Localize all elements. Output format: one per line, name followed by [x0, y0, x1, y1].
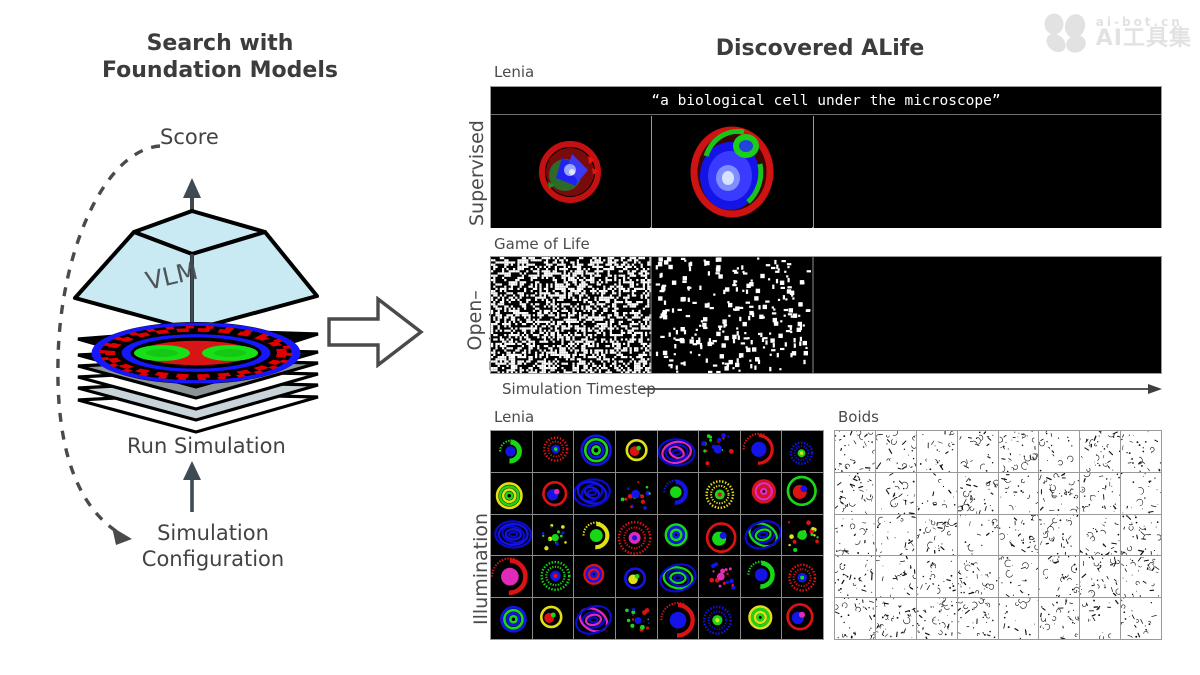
lenia-illumination-cell — [782, 598, 823, 639]
lenia-illumination-cell — [616, 431, 657, 472]
section-transition-arrow — [326, 296, 426, 368]
run-simulation-arrow-head — [183, 461, 201, 480]
supervised-frame-3 — [814, 116, 1161, 228]
lenia-illumination-cell — [699, 515, 740, 556]
lenia-illumination-cell — [658, 556, 699, 597]
lenia-illumination-cell — [658, 473, 699, 514]
lenia-illumination-cell — [491, 515, 532, 556]
lenia-illumination-cell — [616, 473, 657, 514]
boids-illumination-cell — [1080, 473, 1120, 514]
boids-illumination-cell — [1080, 598, 1120, 639]
sim-name-boids: Boids — [838, 408, 879, 426]
boids-illumination-cell — [958, 431, 998, 472]
boids-illumination-cell — [1121, 473, 1161, 514]
sim-name-lenia-illumination: Lenia — [494, 408, 534, 426]
boids-illumination-cell — [1080, 515, 1120, 556]
lenia-illumination-cell — [574, 431, 615, 472]
boids-illumination-cell — [835, 473, 875, 514]
row-label-illumination-text: Illumination — [470, 513, 492, 625]
supervised-frame-1 — [491, 116, 650, 228]
lenia-illumination-cell — [699, 473, 740, 514]
row-label-open-line1: Open– — [464, 269, 486, 372]
boids-illumination-cell — [1080, 431, 1120, 472]
lenia-illumination-cell — [782, 515, 823, 556]
supervised-prompt-text: “a biological cell under the microscope” — [491, 87, 1161, 115]
lenia-illumination-cell — [699, 431, 740, 472]
axis-label-simulation-timestep: Simulation Timestep — [502, 380, 656, 398]
boids-illumination-cell — [1121, 431, 1161, 472]
boids-illumination-cell — [876, 598, 916, 639]
boids-illumination-cell — [999, 473, 1039, 514]
boids-illumination-cell — [835, 515, 875, 556]
boids-illumination-cell — [999, 598, 1039, 639]
lenia-illumination-cell — [574, 556, 615, 597]
vlm-right-face — [192, 232, 317, 330]
boids-illumination-cell — [876, 473, 916, 514]
row-label-illumination: Illumination — [470, 513, 492, 625]
boids-illumination-cell — [835, 556, 875, 597]
boids-illumination-cell — [835, 598, 875, 639]
boids-illumination-cell — [1121, 598, 1161, 639]
lenia-illumination-cell — [533, 598, 574, 639]
boids-illumination-cell — [917, 431, 957, 472]
lenia-illumination-cell — [741, 515, 782, 556]
watermark-text: ai-bot.cn AI工具集 — [1096, 16, 1192, 50]
lenia-illumination-cell — [491, 598, 532, 639]
boids-illumination-cell — [1039, 473, 1079, 514]
watermark-bottom-text: AI工具集 — [1096, 28, 1192, 50]
feedback-loop-arrowhead — [112, 527, 132, 545]
lenia-illumination-cell — [491, 431, 532, 472]
boids-illumination-cell — [1039, 431, 1079, 472]
lenia-illumination-cell — [491, 556, 532, 597]
lenia-illumination-cell — [533, 515, 574, 556]
boids-illumination-cell — [1039, 556, 1079, 597]
score-arrow-head — [183, 178, 201, 198]
lenia-illumination-cell — [491, 473, 532, 514]
supervised-frame-1-render — [491, 116, 650, 228]
game-of-life-panel — [490, 256, 1162, 374]
boids-illumination-cell — [1039, 515, 1079, 556]
lenia-illumination-cell — [699, 598, 740, 639]
lenia-illumination-cell — [782, 556, 823, 597]
boids-illumination-cell — [958, 473, 998, 514]
supervised-frame-2-render — [652, 116, 812, 228]
boids-illumination-cell — [917, 473, 957, 514]
boids-illumination-cell — [999, 431, 1039, 472]
sim-name-game-of-life: Game of Life — [494, 235, 590, 253]
lenia-illumination-cell — [658, 515, 699, 556]
lenia-illumination-cell — [658, 598, 699, 639]
boids-illumination-cell — [1121, 515, 1161, 556]
lenia-illumination-cell — [574, 473, 615, 514]
game-of-life-render — [491, 257, 1161, 373]
lenia-illumination-cell — [533, 473, 574, 514]
boids-illumination-cell — [1039, 598, 1079, 639]
boids-illumination-cell — [958, 598, 998, 639]
lenia-illumination-cell — [533, 556, 574, 597]
lenia-illumination-cell — [574, 515, 615, 556]
lenia-illumination-cell — [616, 515, 657, 556]
lenia-illumination-cell — [699, 556, 740, 597]
lenia-illumination-cell — [782, 473, 823, 514]
lenia-illumination-cell — [616, 556, 657, 597]
boids-illumination-cell — [917, 556, 957, 597]
boids-illumination-cell — [876, 431, 916, 472]
lenia-illumination-cell — [741, 598, 782, 639]
right-section-title: Discovered ALife — [560, 36, 1080, 61]
boids-illumination-cell — [1121, 556, 1161, 597]
lenia-illumination-cell — [533, 431, 574, 472]
boids-illumination-cell — [999, 556, 1039, 597]
boids-illumination-grid — [834, 430, 1162, 640]
lenia-illumination-cell — [741, 556, 782, 597]
vlm-frustum: VLM — [75, 211, 317, 330]
sim-name-lenia-supervised: Lenia — [494, 63, 534, 81]
lenia-illumination-cell — [741, 473, 782, 514]
boids-illumination-cell — [876, 556, 916, 597]
boids-illumination-cell — [876, 515, 916, 556]
row-label-supervised-line1: Supervised — [466, 120, 488, 226]
boids-illumination-cell — [999, 515, 1039, 556]
lenia-illumination-grid — [490, 430, 824, 640]
lenia-illumination-cell — [574, 598, 615, 639]
boids-illumination-cell — [1080, 556, 1120, 597]
boids-illumination-cell — [958, 556, 998, 597]
boids-illumination-cell — [958, 515, 998, 556]
lenia-illumination-cell — [658, 431, 699, 472]
supervised-target-panel: “a biological cell under the microscope” — [490, 86, 1162, 228]
lenia-illumination-cell — [782, 431, 823, 472]
lenia-illumination-cell — [616, 598, 657, 639]
boids-illumination-cell — [835, 431, 875, 472]
lenia-illumination-cell — [741, 431, 782, 472]
boids-illumination-cell — [917, 515, 957, 556]
supervised-frame-2 — [652, 116, 812, 228]
timestep-axis-arrow — [640, 381, 1165, 397]
boids-illumination-cell — [917, 598, 957, 639]
